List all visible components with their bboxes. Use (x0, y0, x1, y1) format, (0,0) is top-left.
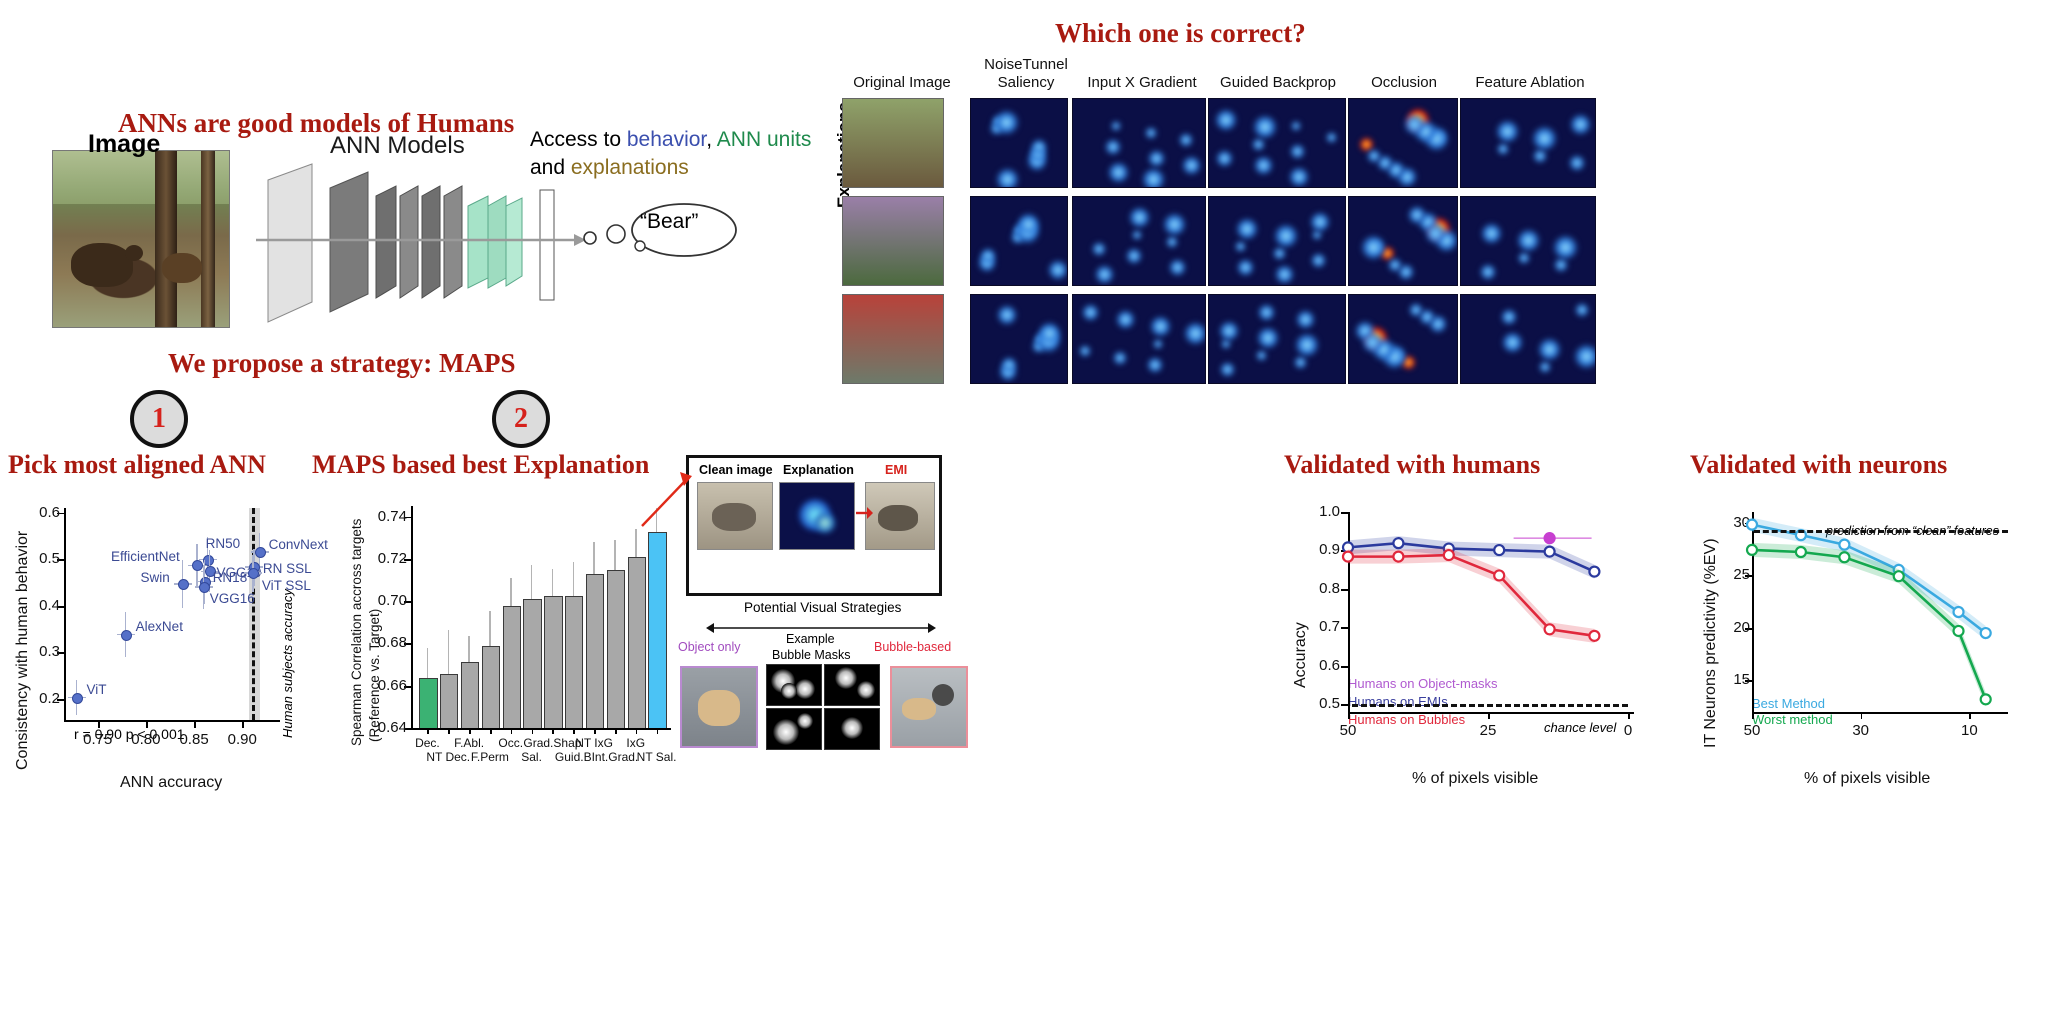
heat-blob (1147, 357, 1163, 373)
scatter-xaxis (64, 720, 280, 722)
grid-header-noisetunnel-l2: Saliency (970, 74, 1082, 91)
heatmap-r1-c5 (1460, 98, 1596, 188)
heading-maps-best: MAPS based best Explanation (312, 450, 649, 480)
strategy-bubble-masks-label: Bubble Masks (772, 648, 851, 662)
heat-blob (1182, 156, 1201, 175)
heat-blob (1481, 223, 1502, 244)
scatter-point-label: RN18 (213, 570, 248, 585)
heat-blob (1502, 332, 1523, 353)
bubble-mask-4 (824, 708, 880, 750)
ann-models-label: ANN Models (330, 132, 465, 160)
heat-blob (1361, 235, 1386, 260)
human-canvas-chance-line (1352, 704, 1628, 707)
step-1-badge: 1 (130, 390, 188, 448)
heat-blob (1362, 332, 1383, 353)
bars-ylabel-line1: Spearman Correlation accross targets (349, 519, 364, 746)
heat-blob (1254, 156, 1273, 175)
emi-header-explanation: Explanation (783, 463, 854, 477)
scatter-point (178, 579, 189, 590)
heat-blob (1570, 114, 1591, 135)
scatter-point-label: RN50 (206, 536, 241, 551)
bar-6 (544, 596, 562, 730)
bar-4 (503, 606, 521, 730)
heat-blob (1291, 121, 1301, 131)
bars-yticklabel: 0.64 (363, 719, 407, 736)
bar-2 (461, 662, 479, 730)
scatter-yaxis (64, 508, 66, 720)
heatmap-r2-c5 (1460, 196, 1596, 286)
heat-blob (1518, 252, 1530, 264)
bars-yticklabel: 0.70 (363, 592, 407, 609)
heat-blob (1256, 350, 1267, 361)
strategies-title: Potential Visual Strategies (744, 600, 901, 615)
scatter-point-label: ViT (87, 682, 107, 697)
heat-blob (1275, 265, 1294, 284)
grid-header-featureablation: Feature Ablation (1460, 74, 1600, 91)
bar-11 (648, 532, 666, 730)
grid-header-noisetunnel-l1: NoiseTunnel (970, 56, 1082, 73)
heat-blob (1153, 339, 1163, 349)
neuron-canvas-reference-line (1754, 530, 2008, 533)
scatter-yticklabel: 0.2 (22, 690, 60, 707)
heat-blob (1532, 126, 1557, 151)
scatter-point (248, 568, 259, 579)
heat-blob (1425, 223, 1446, 244)
heat-blob (1092, 242, 1106, 256)
bubble-mask-2 (824, 664, 880, 706)
bars-yticklabel: 0.68 (363, 634, 407, 651)
access-prefix: Access to (530, 128, 627, 151)
bubble-text: “Bear” (640, 210, 698, 234)
bars-yaxis (411, 506, 413, 728)
heat-blob (1079, 345, 1091, 357)
heat-blob (1497, 143, 1509, 155)
scatter-xtick (146, 720, 148, 728)
heat-blob (1480, 264, 1496, 280)
heat-blob (997, 305, 1017, 325)
grid-header-guidedbackprop: Guided Backprop (1208, 74, 1348, 91)
heading-validated-neurons: Validated with neurons (1690, 450, 1947, 480)
heatmap-r3-c2 (1072, 294, 1206, 384)
heading-we-propose: We propose a strategy: MAPS (168, 348, 515, 379)
scatter-yticklabel: 0.5 (22, 550, 60, 567)
human-canvas-xticklabel: 0 (1608, 722, 1648, 739)
heat-blob (1554, 258, 1568, 272)
thought-bubble (578, 190, 818, 280)
bars-yticklabel: 0.74 (363, 508, 407, 525)
access-explanations: explanations (571, 156, 689, 179)
heat-blob (1273, 247, 1286, 260)
line-chart-human-accuracy: Accuracy % of pixels visible Humans on O… (1290, 498, 1670, 798)
heat-blob (1574, 344, 1596, 369)
bars-xaxis (411, 728, 671, 730)
human-chance-label: chance level (1544, 720, 1616, 735)
heat-blob (1148, 150, 1165, 167)
scatter-point-label: ViT SSL (262, 578, 311, 593)
bubble-mask-1 (766, 664, 822, 706)
heat-blob (1235, 241, 1246, 252)
neuron-canvas-xticklabel: 50 (1732, 722, 1772, 739)
neuron-canvas-xticklabel: 10 (1949, 722, 1989, 739)
heat-blob (1215, 109, 1237, 131)
heat-blob (1258, 304, 1275, 321)
human-subjects-accuracy-label: Human subjects accuracy (280, 589, 295, 738)
bar-7 (565, 596, 583, 730)
heat-blob (1326, 132, 1337, 143)
original-image-row-1 (842, 98, 944, 188)
heading-pick-ann: Pick most aligned ANN (8, 450, 266, 480)
strategy-object-only-label: Object only (678, 640, 741, 654)
heat-blob (1048, 260, 1068, 280)
human-ref-dashed-line (252, 508, 255, 720)
heat-blob (1108, 162, 1129, 183)
emi-inset-panel: Clean image Explanation EMI (686, 455, 942, 596)
heat-blob (1095, 265, 1114, 284)
heat-blob (1219, 321, 1239, 341)
heat-blob (996, 168, 1019, 188)
scatter-point (72, 693, 83, 704)
heat-blob (1311, 253, 1326, 268)
scatter-point-label: AlexNet (136, 619, 183, 634)
heatmap-r2-c3 (1208, 196, 1346, 286)
scatter-point (199, 582, 210, 593)
network-slabs (256, 162, 586, 337)
heatmap-r3-c3 (1208, 294, 1346, 384)
emi-header-emi: EMI (885, 463, 907, 477)
explanation-grid-panel: Explanations Original Image NoiseTunnel … (840, 58, 2040, 398)
heat-blob (1031, 139, 1047, 155)
neuron-canvas-xticklabel: 30 (1841, 722, 1881, 739)
human-xlabel: % of pixels visible (1412, 770, 1538, 788)
heat-blob (1553, 235, 1578, 260)
heat-blob (1163, 213, 1186, 236)
heat-blob (1116, 310, 1135, 329)
access-and: and (530, 156, 571, 179)
heat-blob (1132, 230, 1142, 240)
scatter-xticklabel: 0.85 (174, 731, 214, 748)
heat-blob (1169, 259, 1186, 276)
heat-blob (1290, 144, 1305, 159)
scatter-xticklabel: 0.90 (222, 731, 262, 748)
bar-chart-spearman: Spearman Correlation accross targets (Re… (345, 498, 675, 798)
emi-header-clean: Clean image (699, 463, 773, 477)
scatter-xticklabel: 0.75 (78, 731, 118, 748)
scatter-yticklabel: 0.6 (22, 504, 60, 521)
heatmap-r2-c4 (1348, 196, 1458, 286)
strategy-object-image (680, 666, 758, 748)
heat-blob (1296, 310, 1315, 329)
bar-3 (482, 646, 500, 730)
access-comma: , (706, 128, 717, 151)
heat-blob (1388, 258, 1402, 272)
heat-blob (1310, 212, 1330, 232)
heat-blob (1145, 127, 1157, 139)
heat-blob (1294, 356, 1307, 369)
emi-explanation-image (779, 482, 855, 550)
heat-blob (1274, 224, 1298, 248)
heatmap-r1-c4 (1348, 98, 1458, 188)
heat-blob (1295, 333, 1319, 357)
heat-blob (1082, 304, 1099, 321)
scatter-xtick (98, 720, 100, 728)
scatter-xlabel: ANN accuracy (120, 774, 222, 792)
heat-blob (1236, 218, 1258, 240)
scatter-point (255, 547, 266, 558)
bars-yticklabel: 0.72 (363, 550, 407, 567)
heatmap-r1-c3 (1208, 98, 1346, 188)
scatter-point-label: ConvNext (269, 537, 328, 552)
heat-blob (1257, 327, 1279, 349)
heat-blob (1113, 351, 1127, 365)
image-label: Image (88, 130, 160, 159)
strategy-bubble-based-label: Bubble-based (874, 640, 951, 654)
heat-blob (994, 110, 1019, 135)
bar-9 (607, 570, 625, 730)
heat-blob (1252, 138, 1265, 151)
bar-8 (586, 574, 604, 730)
heat-blob (1289, 167, 1309, 187)
heat-blob (1038, 322, 1061, 345)
heat-blob (1496, 120, 1519, 143)
bubble-mask-3 (766, 708, 822, 750)
heading-which-correct: Which one is correct? (1055, 18, 1306, 49)
heatmap-r3-c1 (970, 294, 1068, 384)
heatmap-r3-c5 (1460, 294, 1596, 384)
bear-photo (52, 150, 230, 328)
heat-blob (1538, 338, 1561, 361)
original-image-row-3 (842, 294, 944, 384)
heat-blob (1569, 155, 1585, 171)
heat-blob (1129, 207, 1150, 228)
human-canvas-xticklabel: 25 (1468, 722, 1508, 739)
scatter-point-label: Swin (141, 570, 170, 585)
neuron-xlabel: % of pixels visible (1804, 770, 1930, 788)
heat-blob (1142, 168, 1165, 188)
scatter-point-label: EfficientNet (111, 549, 180, 564)
scatter-xtick (242, 720, 244, 728)
red-pointer-arrow-icon (640, 470, 696, 530)
original-image-row-2 (842, 196, 944, 286)
strategy-example-label: Example (786, 632, 835, 646)
heat-blob (1409, 303, 1423, 317)
heat-blob (1575, 303, 1589, 317)
bar-0 (419, 678, 437, 730)
heat-blob (1533, 149, 1547, 163)
bar-1 (440, 674, 458, 730)
potential-visual-strategies-panel: Potential Visual Strategies Object only … (678, 600, 968, 790)
heat-blob (1501, 309, 1517, 325)
heat-blob (1237, 259, 1254, 276)
scatter-plot-ann-alignment: Consistency with human behavior ANN accu… (12, 498, 322, 798)
access-behavior: behavior (627, 128, 706, 151)
scatter-point-label: RN SSL (263, 561, 312, 576)
emi-arrow-icon (855, 502, 873, 524)
access-units: ANN units (717, 128, 812, 151)
grid-header-original: Original Image (846, 74, 958, 91)
scatter-xtick (194, 720, 196, 728)
bar-xticklabel-10: IxG (606, 736, 666, 750)
heatmap-r2-c2 (1072, 196, 1206, 286)
heat-blob (1111, 121, 1121, 131)
emi-clean-image (697, 482, 773, 550)
heat-blob (1001, 357, 1017, 373)
scatter-point-label: VGG16 (210, 591, 255, 606)
heatmap-r2-c1 (970, 196, 1068, 286)
grid-header-occlusion: Occlusion (1348, 74, 1460, 91)
heat-blob (1220, 362, 1235, 377)
heat-blob (1179, 133, 1193, 147)
heat-blob (1126, 248, 1142, 264)
human-canvas-xticklabel: 50 (1328, 722, 1368, 739)
access-label: Access to behavior, ANN units and explan… (530, 126, 840, 183)
heat-blob (1404, 114, 1425, 135)
heat-blob (1367, 149, 1381, 163)
heat-blob (980, 248, 996, 264)
scatter-point (121, 630, 132, 641)
step-2-badge: 2 (492, 390, 550, 448)
bars-yticklabel: 0.66 (363, 677, 407, 694)
scatter-xticklabel: 0.80 (126, 731, 166, 748)
scatter-yticklabel: 0.3 (22, 643, 60, 660)
line-chart-neuron-predictivity: IT Neurons predictivity (%EV) % of pixel… (1700, 498, 2040, 798)
heat-blob (1150, 316, 1171, 337)
heatmap-r1-c1 (970, 98, 1068, 188)
heat-blob (1539, 361, 1551, 373)
scatter-yticklabel: 0.4 (22, 597, 60, 614)
human-canvas-series (1290, 498, 1648, 722)
strategy-bubble-image (890, 666, 968, 748)
grid-header-inputxgradient: Input X Gradient (1072, 74, 1212, 91)
heat-blob (1184, 322, 1206, 345)
heat-blob (1166, 236, 1178, 248)
bar-10 (628, 557, 646, 730)
heat-blob (1216, 150, 1233, 167)
heat-blob (1105, 139, 1121, 155)
heading-validated-humans: Validated with humans (1284, 450, 1540, 480)
heat-blob (1017, 213, 1040, 236)
bar-5 (523, 599, 541, 730)
emi-result-image (865, 482, 935, 550)
heat-blob (1517, 229, 1540, 252)
heatmap-r3-c4 (1348, 294, 1458, 384)
heat-blob (1253, 115, 1277, 139)
heat-blob (1408, 206, 1426, 224)
heatmap-r1-c2 (1072, 98, 1206, 188)
